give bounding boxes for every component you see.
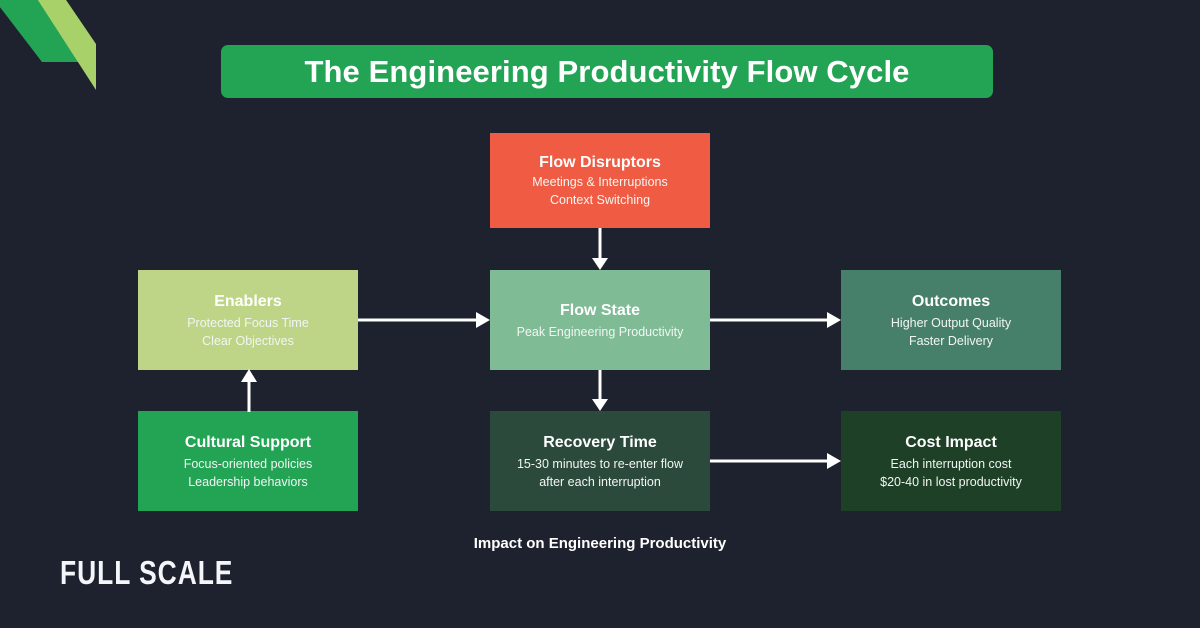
node-detail-line: after each interruption [539,473,661,491]
arrow-enablers-to-flow-state [358,305,491,335]
node-detail-line: Meetings & Interruptions [532,173,668,191]
node-detail-line: Protected Focus Time [187,314,309,332]
node-flow-state: Flow State Peak Engineering Productivity [490,270,710,370]
node-enablers: Enablers Protected Focus Time Clear Obje… [138,270,358,370]
node-title: Outcomes [912,291,990,312]
node-title: Recovery Time [543,432,657,453]
node-detail-line: Each interruption cost [891,455,1012,473]
full-scale-wordmark: FULL SCALE [60,554,233,592]
node-detail-line: Clear Objectives [202,332,294,350]
node-flow-disruptors: Flow Disruptors Meetings & Interruptions… [490,133,710,228]
arrow-flow-state-to-outcomes [710,305,842,335]
node-detail-line: Higher Output Quality [891,314,1011,332]
node-detail-line: Context Switching [550,191,650,209]
node-title: Flow State [560,300,640,321]
node-cost-impact: Cost Impact Each interruption cost $20-4… [841,411,1061,511]
node-title: Flow Disruptors [539,152,661,173]
node-detail-line: $20-40 in lost productivity [880,473,1022,491]
full-scale-logo-icon [0,0,96,96]
page-title-banner: The Engineering Productivity Flow Cycle [221,45,993,98]
node-detail-line: Peak Engineering Productivity [517,323,684,341]
node-title: Cost Impact [905,432,997,453]
node-detail-line: Focus-oriented policies [184,455,313,473]
node-detail-line: Leadership behaviors [188,473,308,491]
infographic-canvas: The Engineering Productivity Flow Cycle … [0,0,1200,628]
node-title: Cultural Support [185,432,311,453]
node-detail-line: Faster Delivery [909,332,993,350]
node-detail-line: 15-30 minutes to re-enter flow [517,455,683,473]
page-title: The Engineering Productivity Flow Cycle [304,54,909,90]
diagram-caption: Impact on Engineering Productivity [0,535,1200,552]
arrow-cultural-support-to-enablers [232,369,266,412]
node-title: Enablers [214,291,282,312]
arrow-flow-state-to-recovery-time [583,370,617,412]
arrow-disruptors-to-flow-state [583,228,617,271]
node-outcomes: Outcomes Higher Output Quality Faster De… [841,270,1061,370]
arrow-recovery-time-to-cost-impact [710,446,842,476]
node-recovery-time: Recovery Time 15-30 minutes to re-enter … [490,411,710,511]
node-cultural-support: Cultural Support Focus-oriented policies… [138,411,358,511]
